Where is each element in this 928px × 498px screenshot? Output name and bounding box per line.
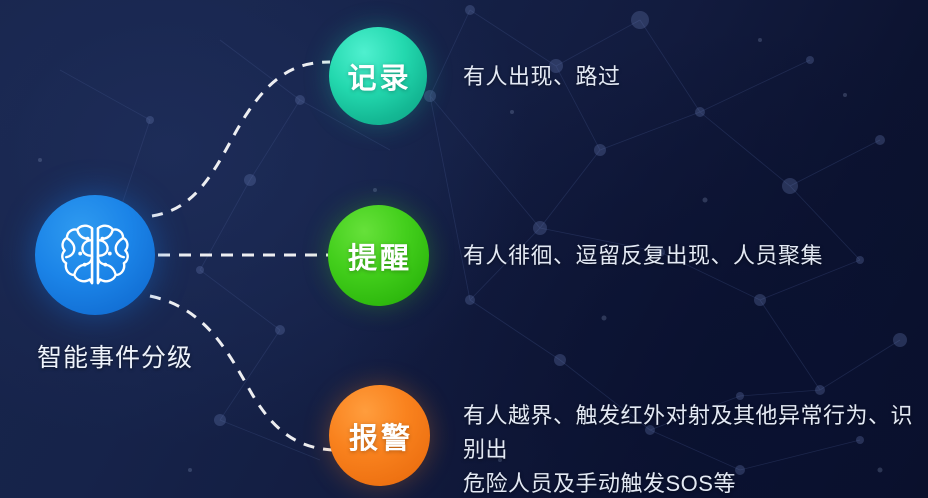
- description-alarm: 有人越界、触发红外对射及其他异常行为、识别出 危险人员及手动触发SOS等: [463, 399, 923, 498]
- brain-icon: [58, 218, 132, 292]
- description-alarm-line-2: 危险人员及手动触发SOS等: [463, 467, 923, 498]
- description-remind: 有人徘徊、逗留反复出现、人员聚集: [463, 239, 823, 273]
- hub-label: 智能事件分级: [10, 338, 220, 374]
- node-remind-label: 提醒: [345, 235, 412, 277]
- node-record-label: 记录: [344, 55, 411, 97]
- node-alarm-label: 报警: [346, 415, 413, 457]
- connector-hub-to-record: [152, 62, 330, 216]
- node-alarm[interactable]: 报警: [329, 385, 430, 486]
- description-alarm-line-1: 有人越界、触发红外对射及其他异常行为、识别出: [463, 399, 923, 467]
- intelligent-event-grading-infographic: 智能事件分级 记录 有人出现、路过 提醒 有人徘徊、逗留反复出现、人员聚集 报警…: [0, 0, 928, 498]
- node-record[interactable]: 记录: [329, 27, 427, 125]
- node-remind[interactable]: 提醒: [328, 205, 429, 306]
- description-record: 有人出现、路过: [463, 60, 621, 94]
- hub-node[interactable]: [35, 195, 155, 315]
